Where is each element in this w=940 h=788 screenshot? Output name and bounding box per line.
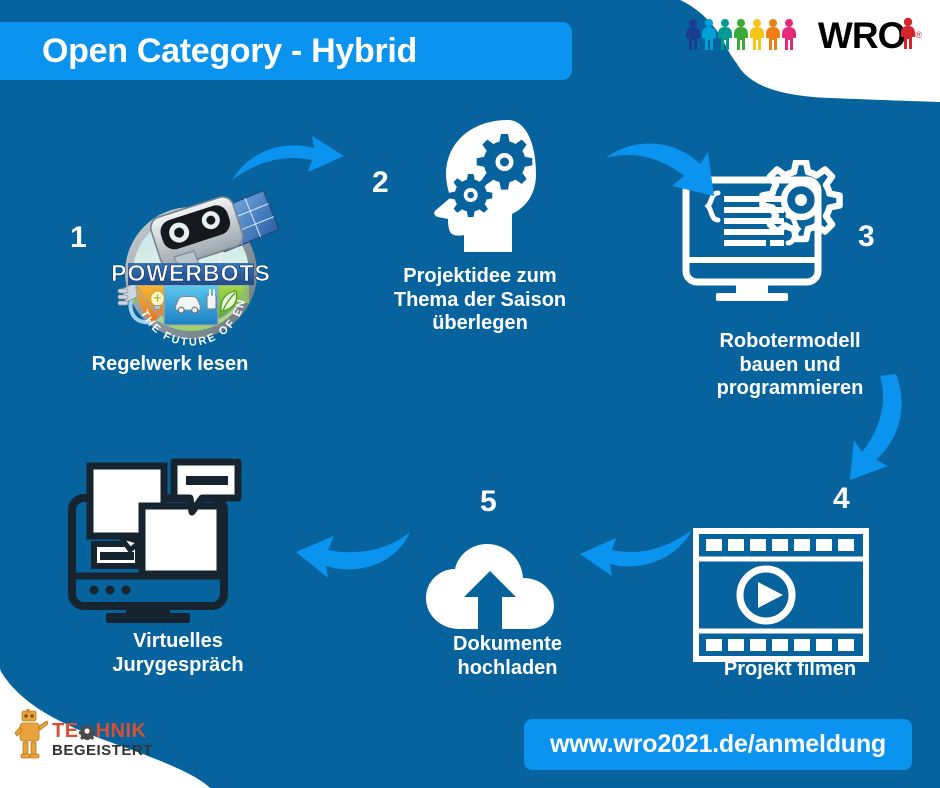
wro-wordmark: WRO [818, 17, 905, 54]
technik-part-2: HNIK [96, 721, 147, 741]
technik-begeistert-wordmark: TE HNIK BEGEISTERT [52, 721, 153, 758]
gear-icon [79, 721, 96, 741]
cloud-upload-icon [420, 535, 590, 638]
robot-mascot-icon [14, 709, 48, 770]
arrow-step2-to-step3 [600, 130, 730, 215]
arrow-step3-to-step4 [838, 372, 908, 493]
step-5-number: 5 [480, 487, 497, 517]
video-call-monitor-icon [68, 450, 268, 635]
technik-part-1: TE [52, 721, 79, 741]
head-with-gears-icon [408, 114, 548, 261]
step-2-number: 2 [372, 168, 389, 198]
step-2: 2 Projektidee zum Thema der Saison überl… [330, 110, 630, 335]
step-4-caption: Projekt filmen [645, 658, 935, 682]
step-3-number: 3 [858, 222, 875, 252]
step-4: 4 Projekt fi [645, 478, 935, 708]
registration-url-label: www.wro2021.de/anmeldung [550, 730, 886, 758]
arrow-step4-to-step5 [578, 518, 696, 585]
arrow-step1-to-step2 [228, 126, 348, 195]
infographic-canvas: WRO ® Open Category - Hybrid 1 [0, 0, 940, 788]
registration-url-button[interactable]: www.wro2021.de/anmeldung [524, 719, 912, 770]
begeistert-line: BEGEISTERT [52, 743, 153, 758]
step-5-caption: Dokumente hochladen [375, 633, 640, 680]
step-1-number: 1 [70, 223, 87, 253]
step-1-caption: Regelwerk lesen [20, 353, 320, 377]
film-strip-play-icon [693, 528, 869, 667]
step-6: 6 [38, 445, 318, 685]
page-title-banner: Open Category - Hybrid [0, 22, 572, 80]
technik-line: TE HNIK [52, 721, 153, 741]
step-1: 1 [20, 185, 320, 385]
wro-logo: WRO ® [685, 12, 922, 58]
technik-begeistert-logo: TE HNIK BEGEISTERT [14, 709, 153, 770]
powerbots-season-logo: POWERBOTS THE FUTURE OF ENERGY [102, 185, 280, 355]
step-2-caption: Projektidee zum Thema der Saison überleg… [330, 265, 630, 336]
registered-trademark-icon: ® [915, 30, 922, 40]
page-title: Open Category - Hybrid [0, 32, 417, 71]
wro-figures-icon [685, 18, 817, 52]
svg-text:POWERBOTS: POWERBOTS [111, 260, 271, 286]
arrow-step5-to-step6 [288, 518, 414, 585]
